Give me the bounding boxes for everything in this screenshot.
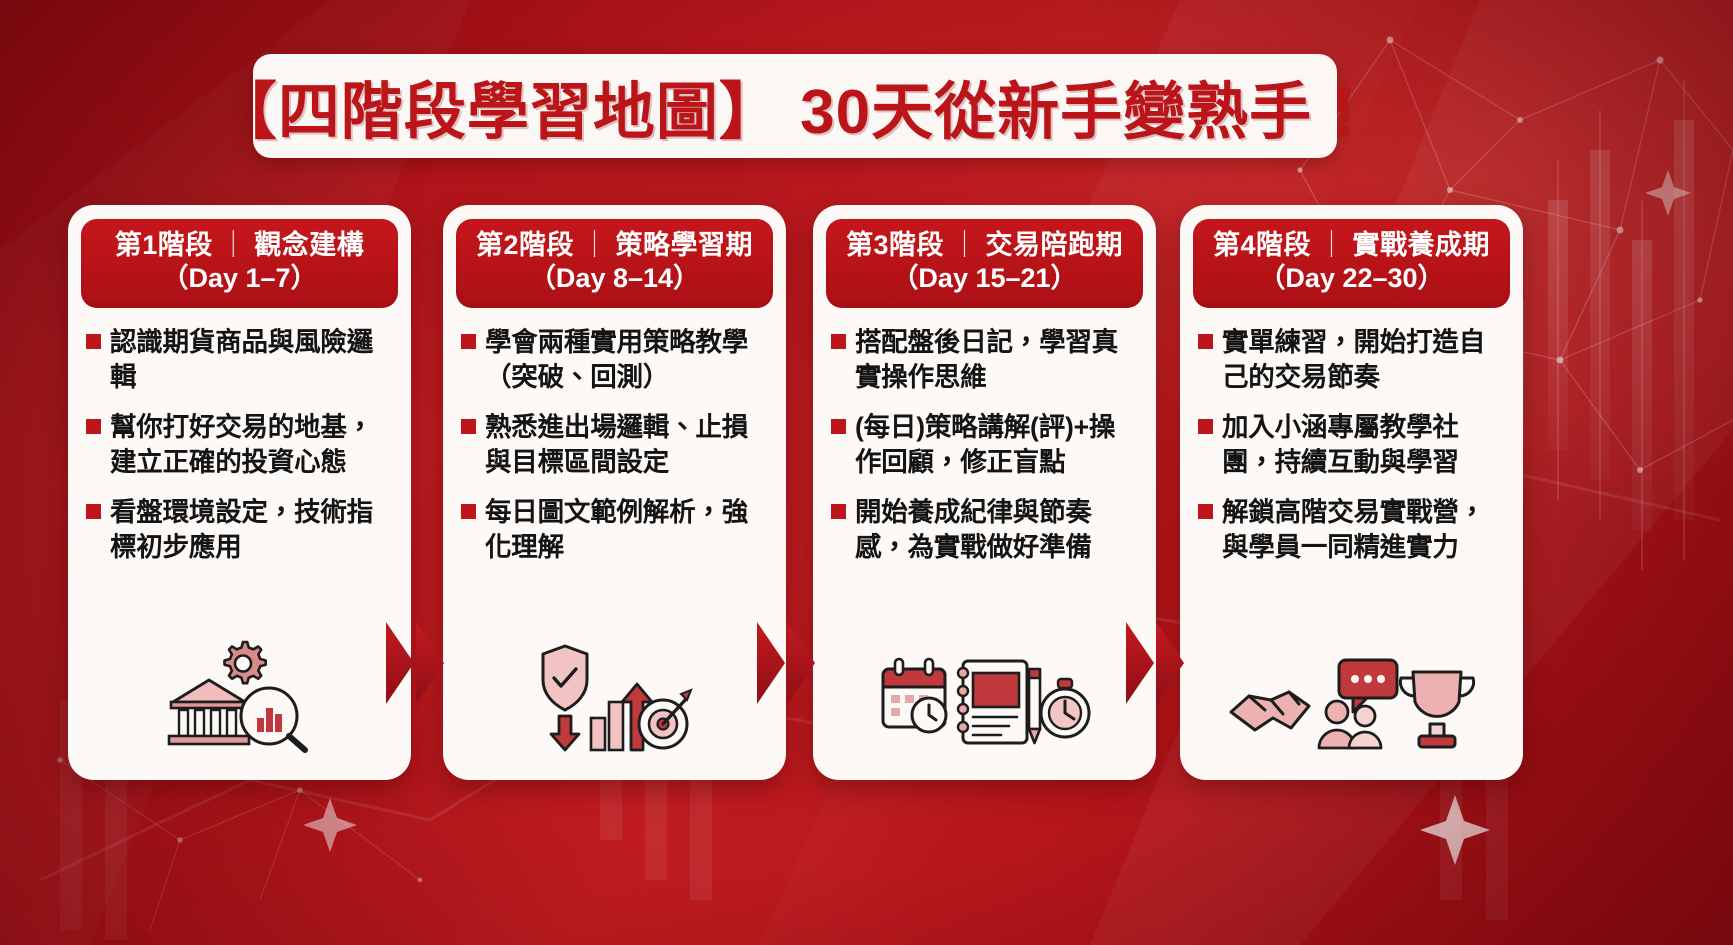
list-item: 學會兩種實用策略教學（突破、回測） bbox=[461, 325, 770, 395]
bullet-label: 每日圖文範例解析，強化理解 bbox=[485, 495, 770, 565]
bullet-square-icon bbox=[1198, 504, 1213, 519]
stage-card-2-icon-area bbox=[443, 650, 786, 780]
bullet-square-icon bbox=[1198, 334, 1213, 349]
stage-card-4-header: 第4階段｜實戰養成期 （Day 22–30） bbox=[1193, 219, 1510, 308]
stage-card-list: 第1階段｜觀念建構 （Day 1–7） 認識期貨商品與風險邏輯 幫你打好交易的地… bbox=[0, 205, 1733, 780]
stage-card-3-stage-label: 第3階段 bbox=[846, 230, 944, 260]
stage-card-3-bullets: 搭配盤後日記，學習真實操作思維 (每日)策略講解(評)+操作回顧，修正盲點 開始… bbox=[813, 308, 1156, 580]
bullet-square-icon bbox=[831, 504, 846, 519]
list-item: 實單練習，開始打造自己的交易節奏 bbox=[1198, 325, 1507, 395]
stage-card-3-icon-area bbox=[813, 650, 1156, 780]
stage-card-4-stage-label: 第4階段 bbox=[1213, 230, 1311, 260]
infographic-root: 【四階段學習地圖】 30天從新手變熟手！ 第1階段｜觀念建構 （Day 1–7）… bbox=[0, 0, 1733, 945]
arrow-stage-1-to-2 bbox=[386, 620, 450, 706]
bullet-label: 學會兩種實用策略教學（突破、回測） bbox=[485, 325, 770, 395]
list-item: 幫你打好交易的地基，建立正確的投資心態 bbox=[86, 410, 395, 480]
stage-card-2-header: 第2階段｜策略學習期 （Day 8–14） bbox=[456, 219, 773, 308]
page-title: 【四階段學習地圖】 30天從新手變熟手！ bbox=[215, 61, 1375, 151]
stage-card-1-bullets: 認識期貨商品與風險邏輯 幫你打好交易的地基，建立正確的投資心態 看盤環境設定，技… bbox=[68, 308, 411, 580]
bullet-square-icon bbox=[461, 504, 476, 519]
stage-card-4-stage-name: 實戰養成期 bbox=[1353, 230, 1491, 260]
stage-card-2-separator: ｜ bbox=[581, 229, 609, 262]
stage-card-1-header: 第1階段｜觀念建構 （Day 1–7） bbox=[81, 219, 398, 308]
bullet-square-icon bbox=[461, 419, 476, 434]
page-title-banner: 【四階段學習地圖】 30天從新手變熟手！ bbox=[253, 54, 1337, 158]
bullet-square-icon bbox=[86, 419, 101, 434]
bullet-label: (每日)策略講解(評)+操作回顧，修正盲點 bbox=[855, 410, 1140, 480]
bullet-label: 看盤環境設定，技術指標初步應用 bbox=[110, 495, 395, 565]
stage-card-1-day-range: （Day 1–7） bbox=[87, 262, 392, 296]
bullet-label: 解鎖高階交易實戰營，與學員一同精進實力 bbox=[1222, 495, 1507, 565]
bullet-square-icon bbox=[461, 334, 476, 349]
list-item: 加入小涵專屬教學社團，持續互動與學習 bbox=[1198, 410, 1507, 480]
list-item: 解鎖高階交易實戰營，與學員一同精進實力 bbox=[1198, 495, 1507, 565]
bullet-label: 開始養成紀律與節奏感，為實戰做好準備 bbox=[855, 495, 1140, 565]
shield-arrows-target-icon bbox=[535, 636, 695, 756]
bullet-label: 熟悉進出場邏輯、止損與目標區間設定 bbox=[485, 410, 770, 480]
stage-card-4-icon-area bbox=[1180, 650, 1523, 780]
handshake-community-trophy-icon bbox=[1227, 656, 1477, 756]
stage-card-1[interactable]: 第1階段｜觀念建構 （Day 1–7） 認識期貨商品與風險邏輯 幫你打好交易的地… bbox=[68, 205, 411, 780]
stage-card-3-day-range: （Day 15–21） bbox=[832, 262, 1137, 296]
arrow-stage-3-to-4 bbox=[1126, 620, 1190, 706]
stage-card-4-bullets: 實單練習，開始打造自己的交易節奏 加入小涵專屬教學社團，持續互動與學習 解鎖高階… bbox=[1180, 308, 1523, 580]
stage-card-1-stage-name: 觀念建構 bbox=[254, 230, 364, 260]
stage-card-3-separator: ｜ bbox=[951, 229, 979, 262]
list-item: (每日)策略講解(評)+操作回顧，修正盲點 bbox=[831, 410, 1140, 480]
bullet-square-icon bbox=[86, 504, 101, 519]
bullet-label: 幫你打好交易的地基，建立正確的投資心態 bbox=[110, 410, 395, 480]
stage-card-2-day-range: （Day 8–14） bbox=[462, 262, 767, 296]
stage-card-4-separator: ｜ bbox=[1318, 229, 1346, 262]
stage-card-1-stage-label: 第1階段 bbox=[115, 230, 213, 260]
stage-card-3[interactable]: 第3階段｜交易陪跑期 （Day 15–21） 搭配盤後日記，學習真實操作思維 (… bbox=[813, 205, 1156, 780]
bullet-label: 加入小涵專屬教學社團，持續互動與學習 bbox=[1222, 410, 1507, 480]
list-item: 認識期貨商品與風險邏輯 bbox=[86, 325, 395, 395]
list-item: 熟悉進出場邏輯、止損與目標區間設定 bbox=[461, 410, 770, 480]
stage-card-2-stage-name: 策略學習期 bbox=[616, 230, 754, 260]
stage-card-3-header: 第3階段｜交易陪跑期 （Day 15–21） bbox=[826, 219, 1143, 308]
list-item: 開始養成紀律與節奏感，為實戰做好準備 bbox=[831, 495, 1140, 565]
bullet-square-icon bbox=[831, 419, 846, 434]
stage-card-1-separator: ｜ bbox=[220, 229, 248, 262]
list-item: 搭配盤後日記，學習真實操作思維 bbox=[831, 325, 1140, 395]
stage-card-1-icon-area bbox=[68, 650, 411, 780]
bullet-square-icon bbox=[831, 334, 846, 349]
arrow-stage-2-to-3 bbox=[757, 620, 821, 706]
calendar-notebook-stopwatch-icon bbox=[877, 651, 1092, 756]
stage-card-2-stage-label: 第2階段 bbox=[476, 230, 574, 260]
bullet-label: 搭配盤後日記，學習真實操作思維 bbox=[855, 325, 1140, 395]
bullet-label: 實單練習，開始打造自己的交易節奏 bbox=[1222, 325, 1507, 395]
bullet-square-icon bbox=[1198, 419, 1213, 434]
list-item: 看盤環境設定，技術指標初步應用 bbox=[86, 495, 395, 565]
stage-card-2[interactable]: 第2階段｜策略學習期 （Day 8–14） 學會兩種實用策略教學（突破、回測） … bbox=[443, 205, 786, 780]
bank-gear-chart-magnifier-icon bbox=[165, 636, 315, 756]
list-item: 每日圖文範例解析，強化理解 bbox=[461, 495, 770, 565]
stage-card-3-stage-name: 交易陪跑期 bbox=[986, 230, 1124, 260]
stage-card-4-day-range: （Day 22–30） bbox=[1199, 262, 1504, 296]
bullet-square-icon bbox=[86, 334, 101, 349]
bullet-label: 認識期貨商品與風險邏輯 bbox=[110, 325, 395, 395]
stage-card-2-bullets: 學會兩種實用策略教學（突破、回測） 熟悉進出場邏輯、止損與目標區間設定 每日圖文… bbox=[443, 308, 786, 580]
stage-card-4[interactable]: 第4階段｜實戰養成期 （Day 22–30） 實單練習，開始打造自己的交易節奏 … bbox=[1180, 205, 1523, 780]
